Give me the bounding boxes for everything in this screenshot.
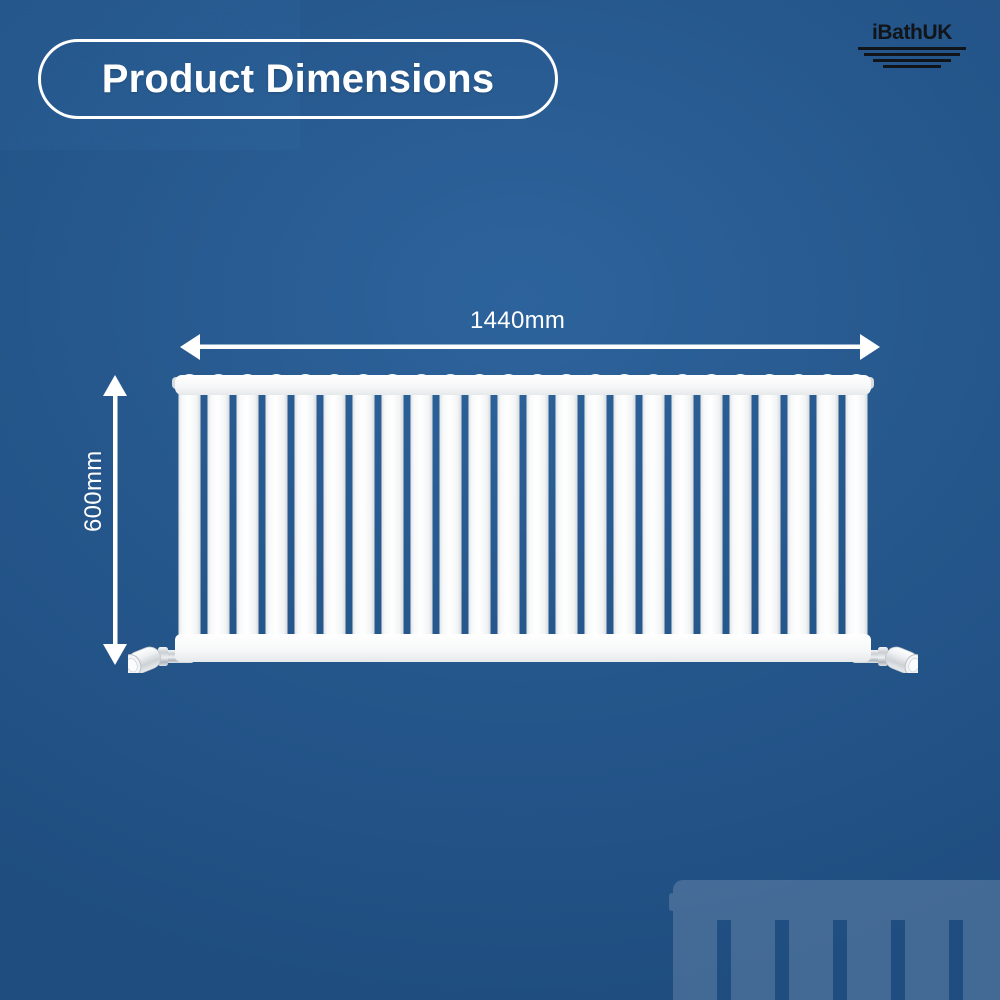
radiator-tube xyxy=(642,374,664,662)
radiator-tube xyxy=(323,374,345,662)
radiator-tube xyxy=(497,374,519,662)
radiator-tube xyxy=(613,374,635,662)
radiator-tube xyxy=(816,374,838,662)
logo-rule-1 xyxy=(858,47,966,50)
brand-logo: iBathUK xyxy=(852,22,972,68)
radiator-tube xyxy=(352,374,374,662)
radiator-bottom-rail xyxy=(175,634,871,662)
radiator-watermark xyxy=(655,853,1000,1000)
radiator-tube xyxy=(265,374,287,662)
page-title: Product Dimensions xyxy=(102,57,495,102)
radiator-tube xyxy=(439,374,461,662)
height-dimension-label: 600mm xyxy=(80,480,108,532)
width-dimension-label: 1440mm xyxy=(470,307,565,335)
radiator-tube xyxy=(845,374,867,662)
radiator-tubes xyxy=(178,374,867,662)
page-title-badge: Product Dimensions xyxy=(38,39,558,119)
radiator-tube xyxy=(207,374,229,662)
radiator-tube xyxy=(729,374,751,662)
radiator-tube xyxy=(381,374,403,662)
radiator-tube xyxy=(584,374,606,662)
radiator-tube xyxy=(410,374,432,662)
radiator-tube xyxy=(787,374,809,662)
brand-logo-text: iBathUK xyxy=(872,22,952,43)
radiator-tube xyxy=(178,374,200,662)
product-dimensions-image: Product Dimensions iBathUK 1440mm 600mm xyxy=(0,0,1000,1000)
radiator-tube xyxy=(555,374,577,662)
radiator-tube xyxy=(671,374,693,662)
radiator-tube xyxy=(468,374,490,662)
logo-rule-2 xyxy=(864,53,960,56)
radiator-tube xyxy=(700,374,722,662)
radiator-top-rail xyxy=(175,375,871,395)
horizontal-dimension-arrow xyxy=(180,334,880,360)
radiator-tube xyxy=(236,374,258,662)
logo-rule-3 xyxy=(873,59,951,62)
logo-rule-4 xyxy=(883,65,941,68)
radiator-product-image xyxy=(128,368,918,673)
radiator-tube xyxy=(294,374,316,662)
radiator-tube xyxy=(758,374,780,662)
radiator-tube xyxy=(526,374,548,662)
